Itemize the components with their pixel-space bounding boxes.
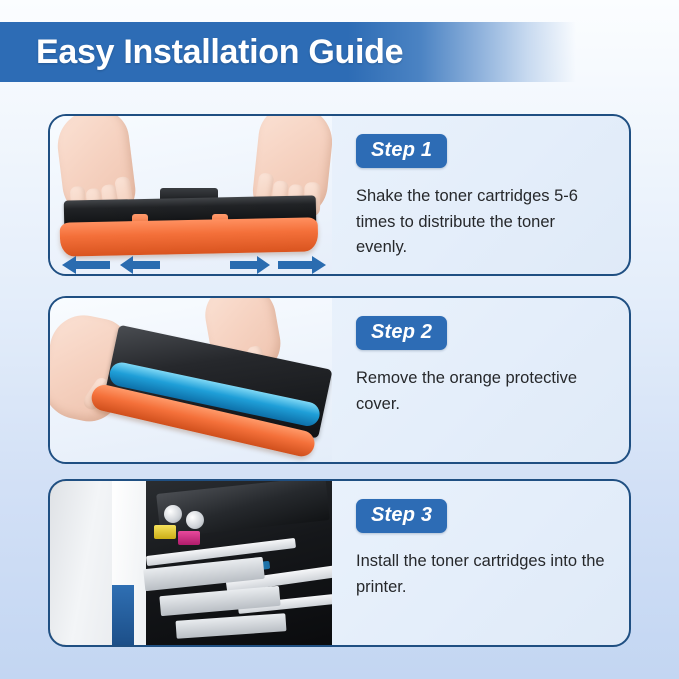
step-2-illustration (50, 298, 332, 462)
cartridge-orange-cover (60, 217, 319, 256)
shake-cartridge-scene (50, 116, 332, 274)
step-3-text: Install the toner cartridges into the pr… (356, 549, 607, 600)
arrow-right-large-icon (278, 256, 326, 274)
step-1-text: Shake the toner cartridges 5-6 times to … (356, 184, 607, 261)
step-1-badge: Step 1 (356, 134, 447, 168)
step-1-illustration (50, 116, 332, 274)
step-2-badge: Step 2 (356, 316, 447, 350)
step-2-content: Step 2 Remove the orange protective cove… (332, 298, 629, 462)
page-title: Easy Installation Guide (36, 33, 403, 72)
step-3-illustration (50, 481, 332, 645)
toner-roller-1 (164, 505, 182, 523)
arrow-left-large-icon (62, 256, 110, 274)
step-3-badge: Step 3 (356, 499, 447, 533)
toner-chip-yellow (154, 525, 176, 539)
step-1-content: Step 1 Shake the toner cartridges 5-6 ti… (332, 116, 629, 274)
toner-roller-2 (186, 511, 204, 529)
step-2-text: Remove the orange protective cover. (356, 366, 607, 417)
printer-interior-scene (50, 481, 332, 645)
step-card-3: Step 3 Install the toner cartridges into… (48, 479, 631, 647)
arrow-right-small-icon (230, 256, 270, 274)
step-card-2: Step 2 Remove the orange protective cove… (48, 296, 631, 464)
toner-chip-magenta (178, 531, 200, 545)
header-banner: Easy Installation Guide (0, 22, 600, 82)
arrow-left-small-icon (120, 256, 160, 274)
step-3-content: Step 3 Install the toner cartridges into… (332, 481, 629, 645)
printer-blue-accent (112, 585, 134, 645)
remove-cover-scene (50, 298, 332, 462)
step-card-1: Step 1 Shake the toner cartridges 5-6 ti… (48, 114, 631, 276)
